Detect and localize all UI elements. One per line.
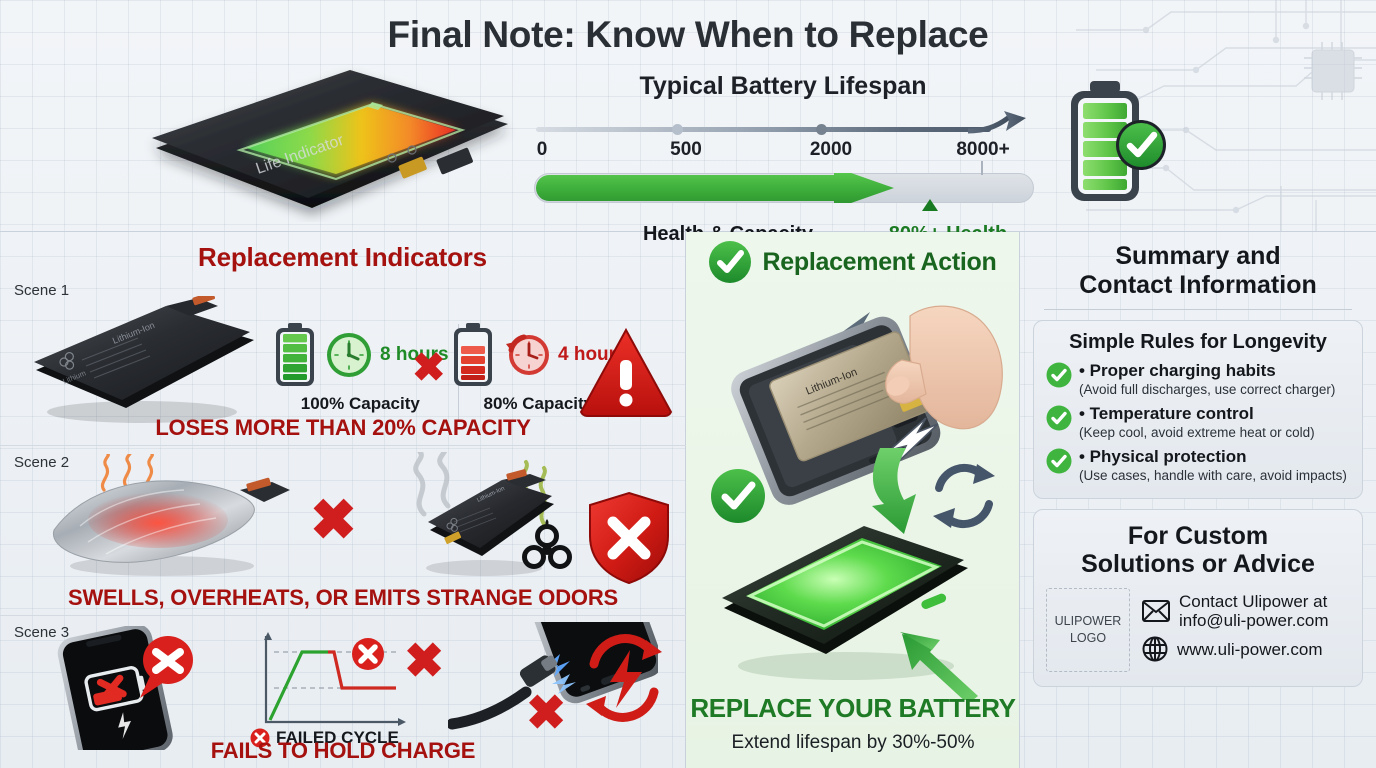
email-line2: info@uli-power.com [1179, 611, 1329, 630]
summary-contact-column: Summary and Contact Information Simple R… [1020, 232, 1376, 768]
battery-full-green-icon [272, 322, 318, 388]
green-up-arrow-icon [886, 618, 982, 700]
check-circle-small-icon [1046, 405, 1072, 431]
check-circle-small-icon [1046, 362, 1072, 388]
green-down-arrow-icon [862, 446, 938, 538]
envelope-icon [1142, 600, 1170, 622]
scene-1-caption: LOSES MORE THAN 20% CAPACITY [0, 415, 686, 441]
replacement-indicators-title: Replacement Indicators [0, 232, 685, 273]
rule-sub-text: (Keep cool, avoid extreme heat or cold) [1079, 425, 1315, 441]
globe-icon [1142, 636, 1168, 662]
simple-rules-title: Simple Rules for Longevity [1046, 331, 1350, 354]
rule-main-text: • Temperature control [1079, 405, 1315, 424]
tick-label-8000: 8000+ [956, 139, 1009, 161]
ulipower-logo-placeholder: ULIPOWER LOGO [1046, 588, 1130, 672]
infographic-root: Final Note: Know When to Replace [0, 0, 1376, 768]
website-text: www.uli-power.com [1177, 640, 1323, 659]
health-threshold-marker-icon [922, 199, 938, 211]
scene-3-caption: FAILS TO HOLD CHARGE [0, 738, 686, 764]
email-line1: Contact Ulipower at [1179, 592, 1329, 611]
email-line[interactable]: Contact Ulipower at info@uli-power.com [1142, 592, 1350, 630]
failed-cycle-chart [250, 630, 410, 734]
scene1-battery-photo: Lithium-Ion Lithium [22, 296, 262, 426]
summary-divider [1044, 309, 1352, 310]
timeline-dot-2000 [816, 124, 827, 135]
check-circle-small-icon [1046, 448, 1072, 474]
website-line[interactable]: www.uli-power.com [1142, 636, 1350, 662]
battery-lifespan-chart: Typical Battery Lifespan 0 500 [528, 72, 1038, 222]
contact-card: For Custom Solutions or Advice ULIPOWER … [1033, 509, 1363, 688]
contact-details: Contact Ulipower at info@uli-power.com w… [1142, 592, 1350, 668]
biohazard-icon [516, 514, 578, 576]
replacement-indicators-column: Replacement Indicators Scene 1 Lithium-I… [0, 232, 686, 768]
battery-full-check-icon [1062, 78, 1186, 204]
rule-item: • Physical protection (Use cases, handle… [1046, 448, 1350, 483]
check-circle-icon [708, 240, 752, 284]
battery-degraded-red-icon [450, 322, 496, 388]
replacement-action-panel: Replacement Action [686, 232, 1020, 768]
no-charge-cycle-icon [576, 630, 672, 726]
scene-2-caption: SWELLS, OVERHEATS, OR EMITS STRANGE ODOR… [0, 585, 686, 611]
swollen-battery-illustration [40, 454, 300, 580]
replace-battery-caption: REPLACE YOUR BATTERY [686, 693, 1020, 724]
hero-battery-illustration: Life Indicator [140, 62, 520, 222]
scene-2: Scene 2 [0, 446, 686, 616]
header-section: Final Note: Know When to Replace [0, 0, 1376, 232]
tick-label-0: 0 [537, 139, 548, 161]
rule-item: • Proper charging habits (Avoid full dis… [1046, 362, 1350, 397]
tick-label-500: 500 [670, 139, 702, 161]
email-text: Contact Ulipower at info@uli-power.com [1179, 592, 1329, 630]
scene1-good-capacity-label: 100% Capacity [272, 394, 449, 414]
rule-main-text: • Physical protection [1079, 448, 1347, 467]
warning-triangle-icon [578, 326, 674, 418]
contact-body: ULIPOWER LOGO Contact Ulipower at info@u… [1046, 588, 1350, 672]
simple-rules-card: Simple Rules for Longevity • Proper char… [1033, 320, 1363, 499]
tick-label-2000: 2000 [810, 139, 852, 161]
recycle-arrows-icon [927, 460, 1001, 532]
replacement-action-header: Replacement Action [686, 232, 1019, 284]
check-circle-icon-2 [710, 468, 766, 524]
lifespan-chart-title: Typical Battery Lifespan [528, 72, 1038, 101]
scene2-cross-icon-1: ✖ [310, 492, 357, 548]
summary-title-line2: Contact Information [1020, 271, 1376, 300]
health-capacity-bar [528, 169, 1038, 207]
phone-low-battery-illustration [22, 626, 222, 750]
replacement-action-title: Replacement Action [762, 248, 996, 277]
contact-title: For Custom Solutions or Advice [1046, 522, 1350, 579]
logo-line2: LOGO [1070, 630, 1106, 647]
timeline-tick-labels: 0 500 2000 8000+ [528, 139, 1038, 163]
rule-sub-text: (Avoid full discharges, use correct char… [1079, 382, 1335, 398]
logo-line1: ULIPOWER [1055, 613, 1122, 630]
scene1-cross-icon: ✖ [412, 348, 446, 388]
timeline-track [536, 127, 991, 132]
rule-item: • Temperature control (Keep cool, avoid … [1046, 405, 1350, 440]
timeline-dot-500 [672, 124, 683, 135]
contact-title-line1: For Custom [1046, 522, 1350, 550]
clock-green-icon [324, 330, 374, 380]
rule-sub-text: (Use cases, handle with care, avoid impa… [1079, 468, 1347, 484]
health-bar-fill [534, 173, 894, 203]
scene-1: Scene 1 Lithium-Ion Lithium [0, 274, 686, 446]
shield-error-icon [586, 490, 672, 586]
scene3-cross-icon-1: ✖ [404, 638, 444, 686]
contact-title-line2: Solutions or Advice [1046, 550, 1350, 578]
extend-lifespan-caption: Extend lifespan by 30%-50% [686, 732, 1020, 754]
page-title: Final Note: Know When to Replace [0, 14, 1376, 56]
clock-rewind-red-icon [502, 330, 552, 380]
health-bar-tick [981, 161, 983, 175]
lifespan-timeline: 0 500 2000 8000+ [528, 113, 1038, 159]
scene-3: Scene 3 [0, 616, 686, 768]
summary-title: Summary and Contact Information [1020, 232, 1376, 299]
summary-title-line1: Summary and [1020, 242, 1376, 271]
rule-main-text: • Proper charging habits [1079, 362, 1335, 381]
